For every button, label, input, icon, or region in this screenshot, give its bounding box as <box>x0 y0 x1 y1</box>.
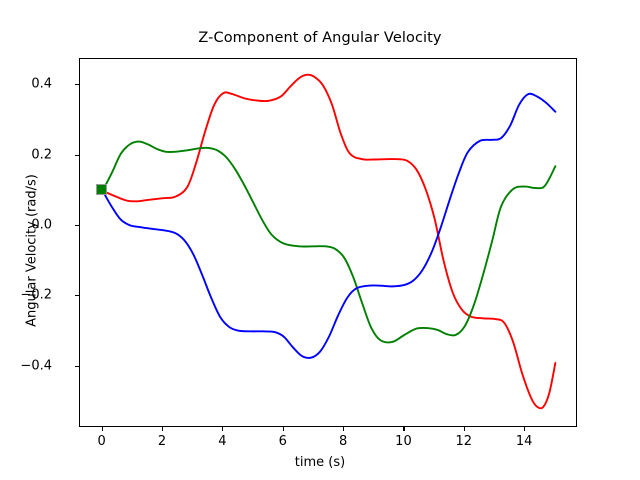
x-tick-label: 8 <box>321 434 365 449</box>
x-axis-label: time (s) <box>0 455 640 470</box>
y-tick-label: 0.0 <box>0 217 52 232</box>
x-tick-label: 12 <box>442 434 486 449</box>
plot-lines <box>80 59 578 428</box>
red-series <box>103 75 556 409</box>
x-tick-label: 4 <box>200 434 244 449</box>
x-tick-label: 10 <box>381 434 425 449</box>
x-tick-label: 0 <box>80 434 124 449</box>
matplotlib-figure: Z-Component of Angular Velocity Angular … <box>0 0 640 480</box>
x-tick-label: 2 <box>140 434 184 449</box>
plot-area <box>79 58 577 427</box>
y-tick-label: 0.4 <box>0 77 52 92</box>
green-series <box>103 142 556 343</box>
start-point-marker <box>96 184 107 195</box>
y-tick-label: 0.2 <box>0 147 52 162</box>
x-tick-label: 6 <box>261 434 305 449</box>
y-tick-label: −0.4 <box>0 358 52 373</box>
chart-title: Z-Component of Angular Velocity <box>0 30 640 46</box>
x-tick-label: 14 <box>502 434 546 449</box>
y-tick-label: −0.2 <box>0 288 52 303</box>
